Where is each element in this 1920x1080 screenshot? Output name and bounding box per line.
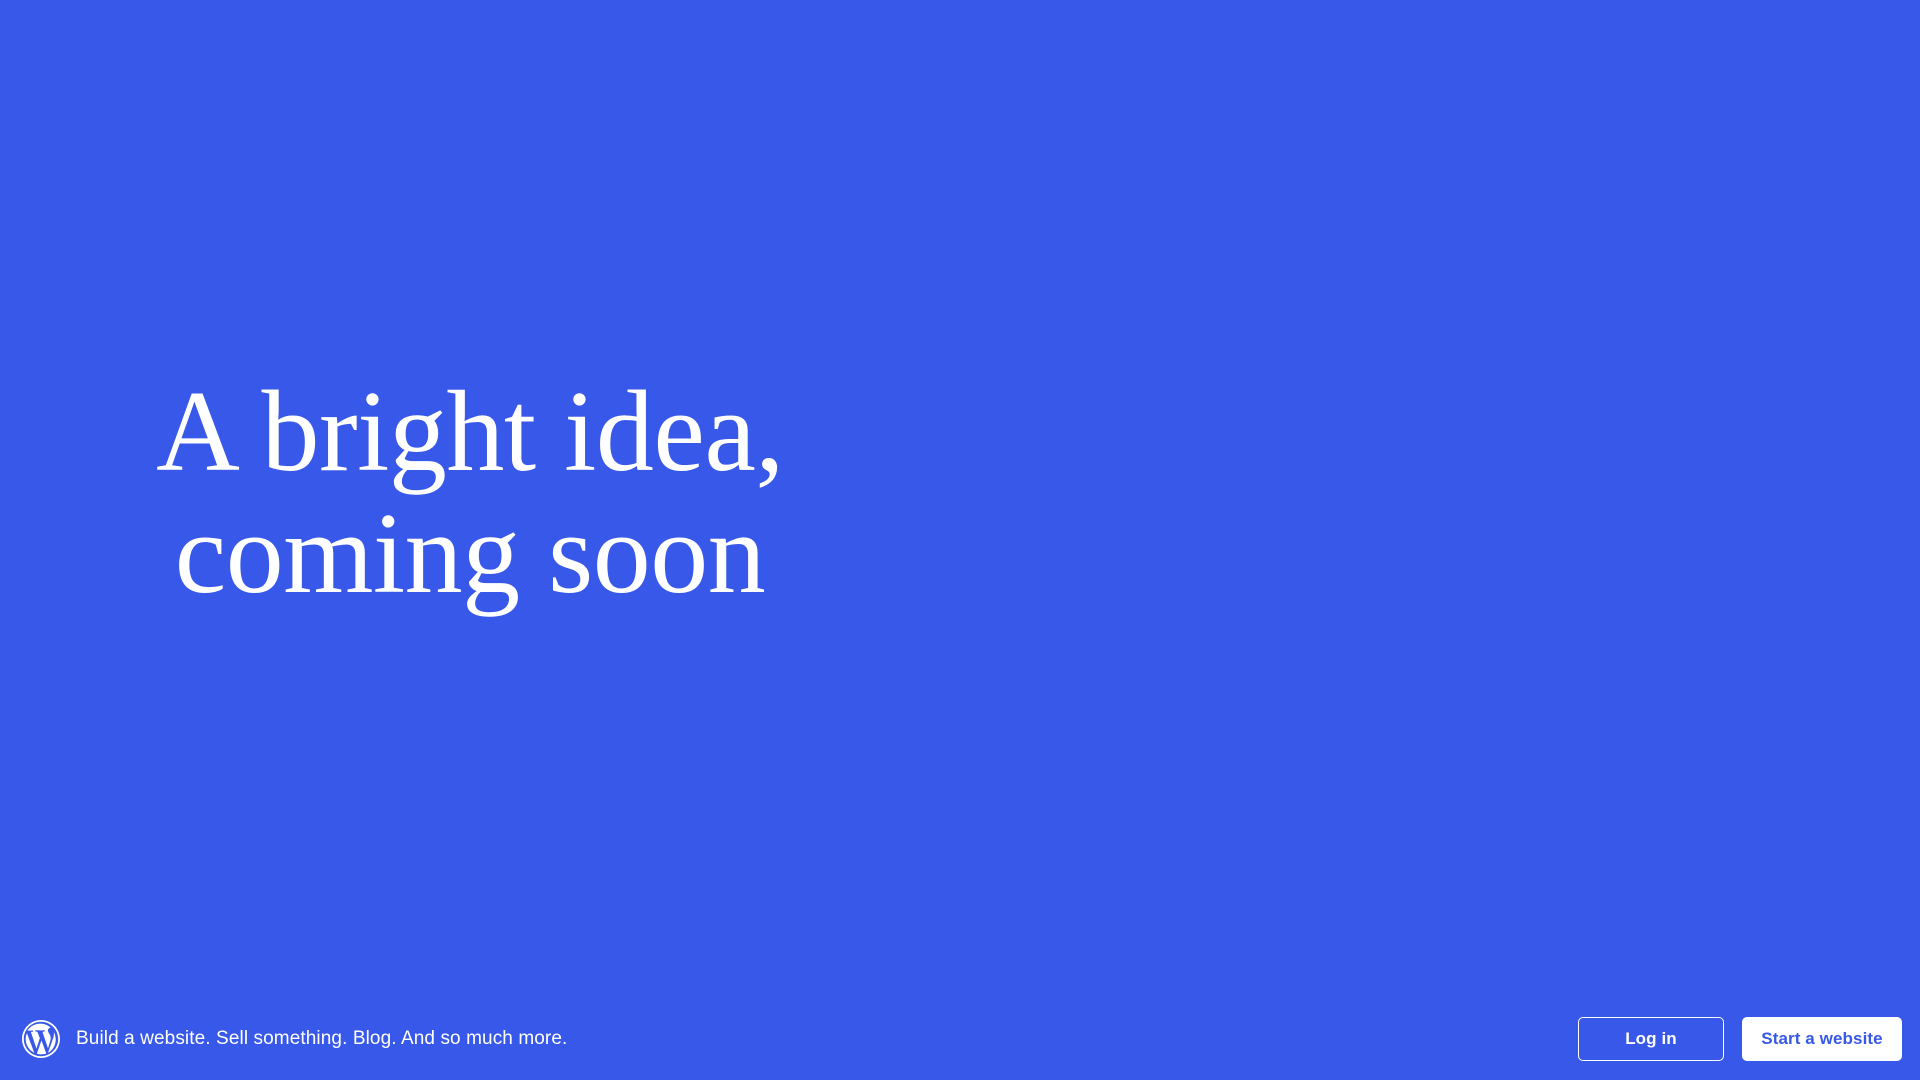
footer-branding: Build a website. Sell something. Blog. A… bbox=[22, 1020, 1578, 1058]
footer-tagline: Build a website. Sell something. Blog. A… bbox=[76, 1028, 567, 1050]
coming-soon-page: A bright idea, coming soon Build a websi… bbox=[0, 0, 1920, 1080]
wordpress-logo-icon[interactable] bbox=[22, 1020, 60, 1058]
start-a-website-button[interactable]: Start a website bbox=[1742, 1017, 1902, 1061]
footer-actions: Log in Start a website bbox=[1578, 1017, 1902, 1061]
page-title: A bright idea, coming soon bbox=[0, 374, 940, 612]
headline-line-1: A bright idea, bbox=[0, 374, 940, 490]
headline-line-2: coming soon bbox=[0, 496, 940, 612]
footer-bar: Build a website. Sell something. Blog. A… bbox=[0, 998, 1920, 1080]
log-in-button[interactable]: Log in bbox=[1578, 1017, 1724, 1061]
hero-section: A bright idea, coming soon bbox=[0, 0, 1920, 1080]
